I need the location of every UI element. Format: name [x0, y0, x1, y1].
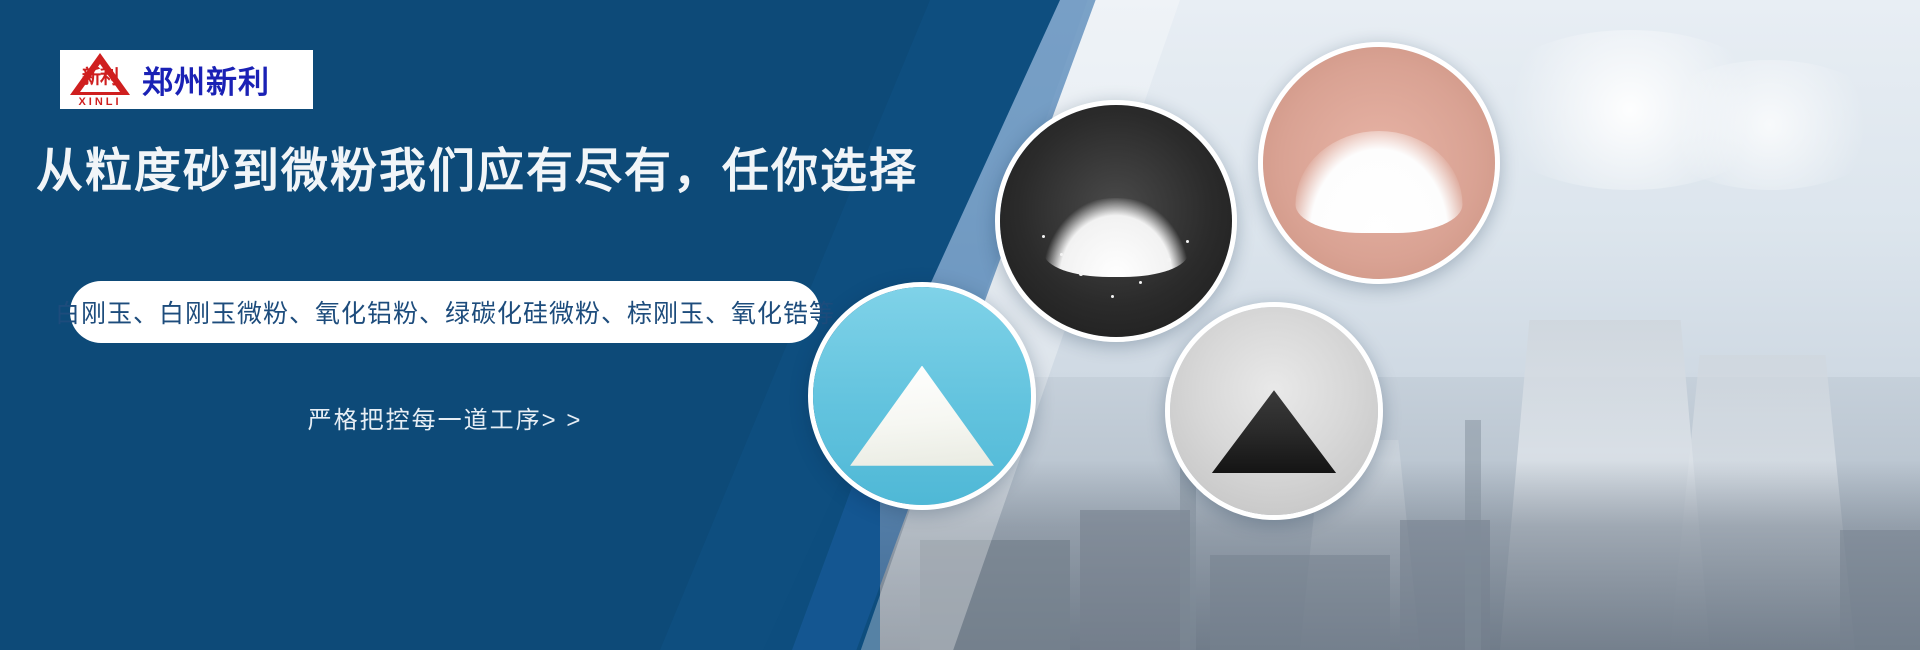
- logo-mark-en-text: XINLI: [64, 97, 136, 108]
- product-list-text: 白刚玉、白刚玉微粉、氧化铝粉、绿碳化硅微粉、棕刚玉、氧化锆等: [55, 294, 835, 330]
- company-name: 郑州新利: [142, 57, 270, 102]
- smoke-stack: [1465, 420, 1481, 650]
- product-image-white-fused-alumina-grain: [995, 100, 1237, 342]
- steam-plume: [1650, 60, 1890, 190]
- product-image-green-silicon-carbide: [1165, 302, 1383, 520]
- company-logo[interactable]: 新利 XINLI 郑州新利: [60, 50, 313, 109]
- product-list-pill: 白刚玉、白刚玉微粉、氧化铝粉、绿碳化硅微粉、棕刚玉、氧化锆等: [70, 281, 820, 343]
- building: [1210, 555, 1390, 650]
- building: [1840, 530, 1920, 650]
- promo-banner: 新利 XINLI 郑州新利 从粒度砂到微粉我们应有尽有，任你选择 白刚玉、白刚玉…: [0, 0, 1920, 650]
- product-image-alumina-powder-cone: [808, 282, 1036, 510]
- building: [1080, 510, 1190, 650]
- xinli-triangle-icon: 新利 XINLI: [64, 52, 136, 107]
- cta-link[interactable]: 严格把控每一道工序> >: [70, 400, 820, 435]
- logo-mark-cn-text: 新利: [64, 68, 136, 87]
- page-title: 从粒度砂到微粉我们应有尽有，任你选择: [36, 142, 918, 201]
- product-image-white-alumina-micropowder: [1258, 42, 1500, 284]
